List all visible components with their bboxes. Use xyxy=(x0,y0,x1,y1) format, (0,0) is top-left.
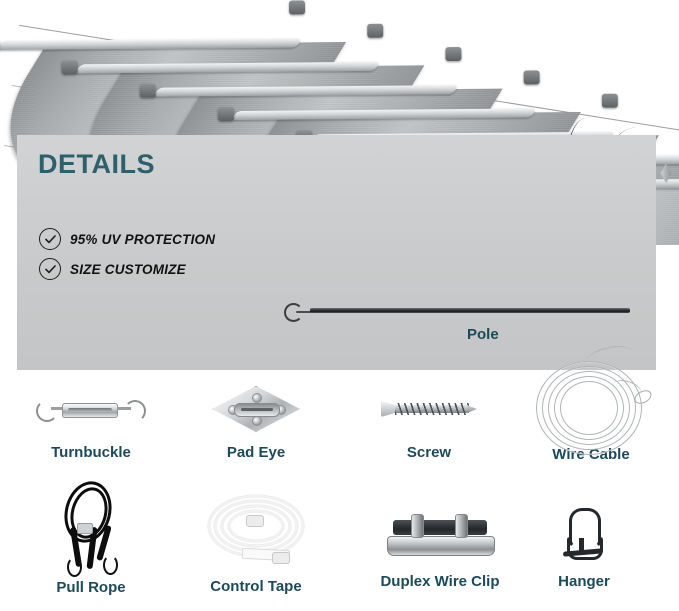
turnbuckle-hook-left xyxy=(36,400,58,422)
pad-eye-icon xyxy=(196,378,316,440)
accessory-item-hanger: Hanger xyxy=(528,503,640,590)
pad-eye-hole xyxy=(252,393,262,403)
feature-label: SIZE CUSTOMIZE xyxy=(70,262,186,277)
turnbuckle-icon xyxy=(28,378,154,440)
roller-end-cap xyxy=(524,70,540,84)
check-circle-icon xyxy=(39,228,61,250)
roller-end-cap xyxy=(602,94,618,108)
accessory-item-screw: Screw xyxy=(376,378,482,461)
accessory-label: Duplex Wire Clip xyxy=(362,573,518,590)
hanger-icon xyxy=(528,503,640,569)
rope-band xyxy=(77,523,93,534)
accessory-item-turnbuckle: Turnbuckle xyxy=(28,378,154,461)
cable-coil-ring xyxy=(560,381,618,435)
clip-saddle xyxy=(387,536,495,556)
clip-body xyxy=(393,520,487,535)
details-card: DETAILS 95% UV PROTECTION SIZE CUSTOMIZE… xyxy=(17,135,656,370)
pole-illustration: Pole xyxy=(282,290,642,350)
feature-label: 95% UV PROTECTION xyxy=(70,232,215,247)
feature-item: 95% UV PROTECTION xyxy=(39,224,215,254)
rope-hook xyxy=(103,555,118,575)
accessory-item-pull-rope: Pull Rope xyxy=(28,483,154,596)
accessory-label: Hanger xyxy=(528,573,640,590)
pole-hook-icon xyxy=(284,303,303,322)
feature-list: 95% UV PROTECTION SIZE CUSTOMIZE xyxy=(39,224,215,284)
product-infographic: DETAILS 95% UV PROTECTION SIZE CUSTOMIZE… xyxy=(0,0,679,611)
feature-item: SIZE CUSTOMIZE xyxy=(39,254,215,284)
accessory-label: Turnbuckle xyxy=(28,444,154,461)
pole-label: Pole xyxy=(467,326,499,343)
roller-end-cap xyxy=(140,84,156,98)
accessory-label: Screw xyxy=(376,444,482,461)
turnbuckle-hook-right xyxy=(124,400,146,422)
pad-eye-hole xyxy=(252,416,262,426)
accessory-item-control-tape: Control Tape xyxy=(190,490,322,595)
accessory-label: Pad Eye xyxy=(196,444,316,461)
page-title: DETAILS xyxy=(38,149,155,180)
turnbuckle-body xyxy=(62,403,118,418)
pole-rod-icon xyxy=(310,308,630,313)
roller-end-cap xyxy=(289,0,305,14)
duplex-wire-clip-icon xyxy=(362,503,518,569)
accessory-grid: Turnbuckle Pad Eye xyxy=(0,378,679,611)
roller-end-cap xyxy=(445,47,461,61)
accessory-item-duplex-wire-clip: Duplex Wire Clip xyxy=(362,503,518,590)
check-circle-icon xyxy=(39,258,61,280)
screw-threads xyxy=(395,403,469,415)
accessory-label: Pull Rope xyxy=(28,579,154,596)
control-tape-icon xyxy=(190,490,322,574)
roller-end-cap xyxy=(367,24,383,38)
pad-eye-ring xyxy=(234,403,280,417)
accessory-label: Control Tape xyxy=(190,578,322,595)
roller-end-cap xyxy=(61,60,77,74)
accessory-item-wire-cable: Wire Cable xyxy=(516,372,666,463)
tape-clip xyxy=(246,515,264,527)
screw-tip xyxy=(467,405,477,413)
accessory-item-pad-eye: Pad Eye xyxy=(196,378,316,461)
clip-bolt xyxy=(455,514,468,538)
wire-cable-icon xyxy=(516,372,666,442)
clip-bolt xyxy=(411,514,424,538)
tape-end-clip xyxy=(272,552,290,564)
rope-hook xyxy=(67,557,82,577)
screw-icon xyxy=(376,378,482,440)
roller-end-cap xyxy=(218,107,234,121)
pull-rope-icon xyxy=(28,483,154,575)
